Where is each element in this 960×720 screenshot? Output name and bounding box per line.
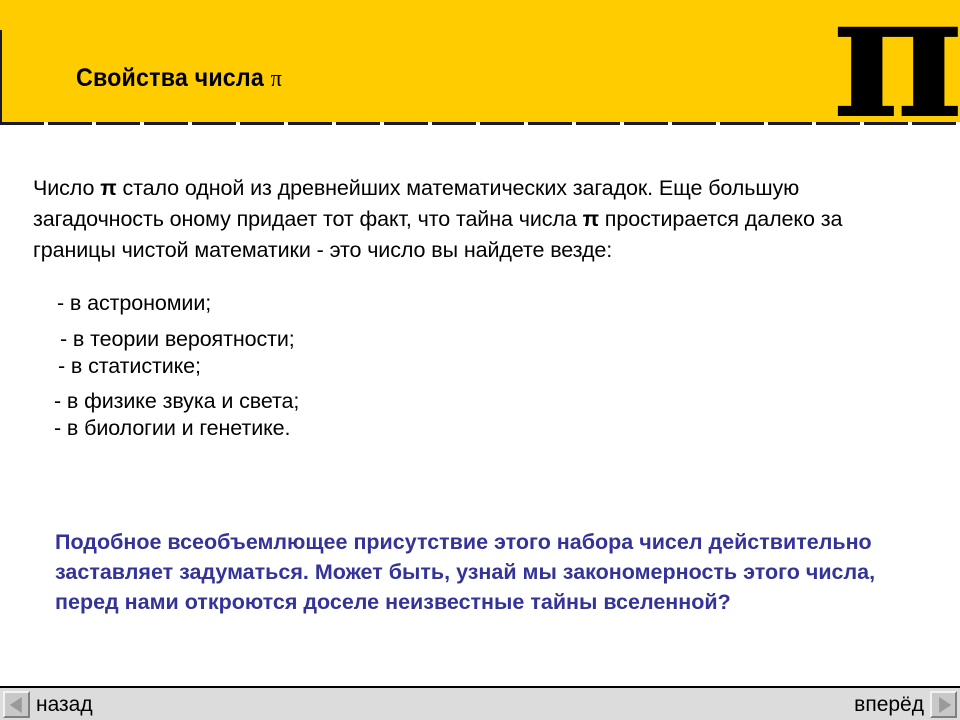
slide-root: Свойства числа π π Число π стало одной и… [0,0,960,720]
list-item: - в физике звука и света; [54,389,960,414]
list-item: - в астрономии; [57,291,960,316]
pi-decoration-icon: π [832,0,960,123]
intro-pi-symbol-1: π [100,176,116,200]
page-title-text: Свойства числа [76,64,271,92]
back-button-label[interactable]: назад [36,693,93,717]
page-title-pi-symbol: π [271,66,282,92]
header-left-edge-accent [0,30,2,123]
conclusion-paragraph: Подобное всеобъемлющее присутствие этого… [55,527,885,617]
back-button[interactable] [3,691,30,718]
intro-pi-symbol-2: π [583,207,599,231]
header-banner: Свойства числа π π [0,0,960,123]
list-item: - в статистике; [58,354,960,379]
intro-text-part-1: Число [33,176,100,200]
list-item: - в теории вероятности; [60,327,960,352]
footer-navigation-bar: назад вперёд [0,686,960,720]
page-title: Свойства числа π [76,64,282,93]
list-item: - в биологии и генетике. [54,416,960,441]
triangle-left-icon [9,697,21,713]
intro-paragraph: Число π стало одной из древнейших матема… [33,173,917,266]
triangle-right-icon [939,697,951,713]
forward-button-label[interactable]: вперёд [854,693,924,717]
slide-content: Число π стало одной из древнейших матема… [0,123,960,685]
forward-button[interactable] [930,691,957,718]
application-list: - в астрономии; - в теории вероятности; … [0,291,960,441]
